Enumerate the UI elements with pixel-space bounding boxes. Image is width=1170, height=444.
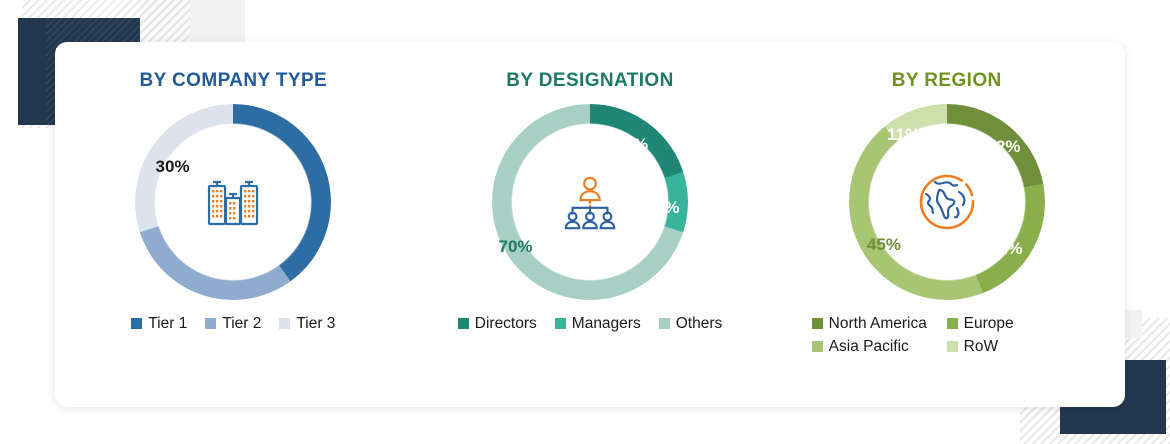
legend-item-label: Tier 3 <box>296 316 335 332</box>
slice-label: 45% <box>867 235 901 255</box>
slice-label: 11% <box>887 125 920 145</box>
slice-label: 10% <box>646 198 680 218</box>
legend-swatch-icon <box>458 318 469 329</box>
legend-item-label: Tier 1 <box>148 316 187 332</box>
legend-swatch-icon <box>812 318 823 329</box>
legend-item-label: Managers <box>572 316 641 332</box>
legend-item-label: North America <box>829 316 927 332</box>
chart-panels: BY COMPANY TYPE <box>55 42 1125 407</box>
donut-chart-region: 22% 22% 45% 11% <box>849 104 1045 300</box>
donut-chart-company-type: 40% 30% 30% <box>135 104 331 300</box>
legend-swatch-icon <box>555 318 566 329</box>
legend-designation: Directors Managers Others <box>458 316 722 332</box>
slice-label: 30% <box>156 157 190 177</box>
buildings-icon <box>195 164 271 240</box>
panel-title-designation: BY DESIGNATION <box>506 70 673 92</box>
panel-region: BY REGION <box>768 42 1125 407</box>
legend-item[interactable]: Tier 1 <box>131 316 187 332</box>
legend-item-label: Europe <box>964 316 1014 332</box>
legend-item-label: Tier 2 <box>222 316 261 332</box>
slice-label: 22% <box>988 239 1022 259</box>
slice-label: 70% <box>499 237 533 257</box>
legend-company-type: Tier 1 Tier 2 Tier 3 <box>131 316 335 332</box>
panel-designation: BY DESIGNATION <box>412 42 769 407</box>
legend-swatch-icon <box>659 318 670 329</box>
legend-swatch-icon <box>947 341 958 352</box>
legend-item-label: Directors <box>475 316 537 332</box>
legend-item[interactable]: RoW <box>947 339 1082 355</box>
legend-item-label: Others <box>676 316 723 332</box>
legend-swatch-icon <box>205 318 216 329</box>
panel-title-company-type: BY COMPANY TYPE <box>140 70 328 92</box>
slice-label: 20% <box>614 135 648 155</box>
chart-card: BY COMPANY TYPE <box>55 42 1125 407</box>
legend-item[interactable]: Others <box>659 316 723 332</box>
panel-company-type: BY COMPANY TYPE <box>55 42 412 407</box>
legend-item-label: RoW <box>964 339 998 355</box>
panel-title-region: BY REGION <box>892 70 1002 92</box>
legend-item[interactable]: Europe <box>947 316 1082 332</box>
legend-region: North America Europe Asia Pacific RoW <box>812 316 1082 354</box>
slice-label: 30% <box>201 255 235 275</box>
legend-swatch-icon <box>812 341 823 352</box>
slice-label: 22% <box>986 137 1020 157</box>
legend-item[interactable]: North America <box>812 316 947 332</box>
legend-swatch-icon <box>131 318 142 329</box>
legend-item[interactable]: Managers <box>555 316 641 332</box>
legend-item-label: Asia Pacific <box>829 339 909 355</box>
slice-label: 40% <box>271 192 305 212</box>
globe-icon <box>909 164 985 240</box>
legend-item[interactable]: Tier 2 <box>205 316 261 332</box>
org-hierarchy-icon <box>552 164 628 240</box>
legend-swatch-icon <box>279 318 290 329</box>
donut-chart-designation: 20% 10% 70% <box>492 104 688 300</box>
legend-item[interactable]: Asia Pacific <box>812 339 947 355</box>
legend-swatch-icon <box>947 318 958 329</box>
infographic-canvas: BY COMPANY TYPE <box>0 0 1170 444</box>
legend-item[interactable]: Directors <box>458 316 537 332</box>
legend-item[interactable]: Tier 3 <box>279 316 335 332</box>
